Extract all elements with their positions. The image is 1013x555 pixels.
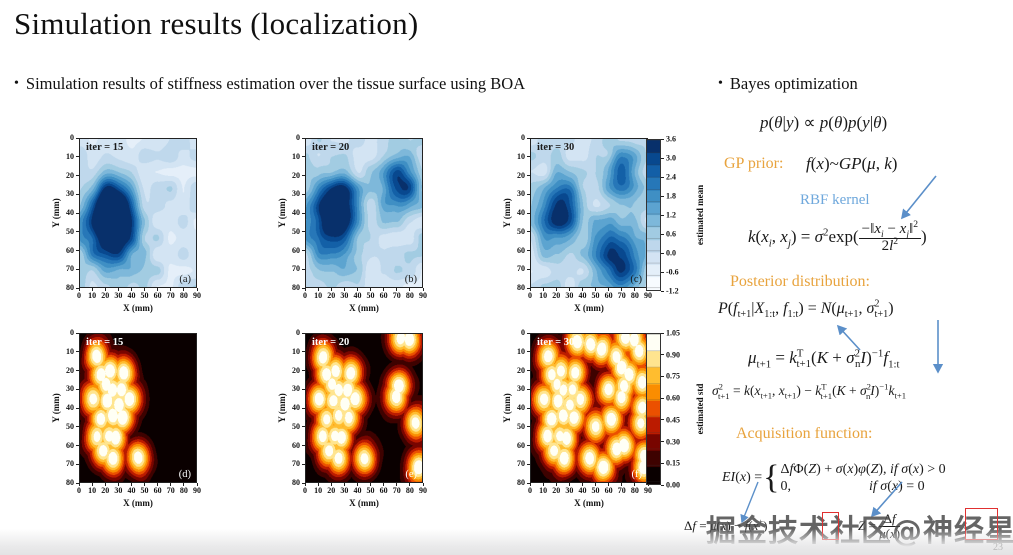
iteration-label-f: iter = 30 [537, 337, 574, 348]
iteration-label-e: iter = 20 [312, 337, 349, 348]
y-tickmark [527, 333, 530, 334]
heatmap-panel-d: iter = 15(d) [79, 333, 197, 483]
y-tickmark [76, 445, 79, 446]
y-tick-label: 30 [60, 190, 74, 198]
x-tick-label: 90 [644, 292, 652, 300]
y-tickmark [76, 351, 79, 352]
x-tick-label: 60 [380, 292, 388, 300]
x-tick-label: 70 [618, 292, 626, 300]
panel-letter-c: (c) [630, 274, 642, 285]
formula-rbf-kernel: k(xi, xj) = σ2exp( −‖xi − xj‖2 2l2 ) [748, 222, 927, 255]
colorbar-tickmark [661, 376, 664, 377]
y-tickmark [527, 426, 530, 427]
colorbar-tick-label: -0.6 [666, 268, 679, 277]
page-title: Simulation results (localization) [14, 6, 418, 42]
y-tickmark [76, 408, 79, 409]
colorbar-tickmark [661, 354, 664, 355]
bullet-marker-right: • [718, 76, 723, 92]
formula-sigma-update: σ2t+1 = k(xt+1, xt+1) − kTt+1(K + σ2nI)−… [712, 383, 906, 399]
y-tickmark [76, 194, 79, 195]
y-tickmark [527, 250, 530, 251]
x-tick-label: 60 [605, 487, 613, 495]
colorbar-tickmark [661, 441, 664, 442]
bullet-marker-left: • [14, 76, 19, 92]
colorbar-tick-label: 1.2 [666, 211, 676, 220]
y-axis-label: Y (mm) [277, 198, 287, 227]
y-tick-label: 80 [286, 479, 300, 487]
formula-bayes-rule: p(θ|y) ∝ p(θ)p(y|θ) [760, 113, 887, 133]
x-tick-label: 50 [367, 292, 375, 300]
x-tick-label: 20 [552, 487, 560, 495]
page-number: 23 [993, 542, 1003, 553]
heatmap-canvas-a [80, 139, 196, 287]
x-tick-label: 10 [539, 487, 547, 495]
y-tickmark [527, 408, 530, 409]
y-tickmark [302, 250, 305, 251]
y-tickmark [76, 464, 79, 465]
y-tick-label: 40 [286, 209, 300, 217]
y-tick-label: 60 [60, 247, 74, 255]
y-tick-label: 40 [286, 404, 300, 412]
x-tick-label: 40 [353, 487, 361, 495]
x-tick-label: 30 [114, 487, 122, 495]
y-tickmark [302, 426, 305, 427]
x-tick-label: 30 [565, 487, 573, 495]
x-tick-label: 0 [77, 292, 81, 300]
y-tick-label: 0 [286, 329, 300, 337]
colorbar-title: estimated mean [695, 185, 705, 245]
x-tick-label: 10 [314, 292, 322, 300]
x-tick-label: 60 [380, 487, 388, 495]
y-tickmark [76, 333, 79, 334]
x-tick-label: 10 [88, 292, 96, 300]
x-tick-label: 50 [592, 292, 600, 300]
y-tick-label: 50 [60, 423, 74, 431]
colorbar-estimated-mean [646, 139, 661, 291]
x-tick-label: 80 [631, 487, 639, 495]
y-tick-label: 70 [60, 460, 74, 468]
x-tick-label: 50 [141, 487, 149, 495]
iteration-label-a: iter = 15 [86, 142, 123, 153]
x-tick-label: 30 [114, 292, 122, 300]
colorbar-tickmark [661, 485, 664, 486]
y-tickmark [527, 156, 530, 157]
x-tick-label: 20 [101, 487, 109, 495]
footer-fade [0, 529, 1013, 555]
y-tickmark [76, 156, 79, 157]
x-tick-label: 70 [167, 487, 175, 495]
x-axis-label: X (mm) [123, 498, 153, 508]
colorbar-tickmark [661, 196, 664, 197]
colorbar-title: estimated std [695, 384, 705, 435]
y-tick-label: 20 [60, 172, 74, 180]
y-tickmark [302, 483, 305, 484]
x-tick-label: 0 [303, 487, 307, 495]
bullet-right-text: Bayes optimization [730, 74, 858, 93]
panel-letter-d: (d) [179, 469, 191, 480]
y-tick-label: 80 [511, 479, 525, 487]
x-tick-label: 20 [327, 292, 335, 300]
x-tick-label: 10 [314, 487, 322, 495]
y-tick-label: 30 [511, 385, 525, 393]
iteration-label-c: iter = 30 [537, 142, 574, 153]
y-tick-label: 50 [286, 423, 300, 431]
y-tick-label: 80 [511, 284, 525, 292]
y-tickmark [527, 483, 530, 484]
colorbar-tickmark [661, 253, 664, 254]
y-tickmark [302, 389, 305, 390]
colorbar-tick-label: 0.45 [666, 415, 680, 424]
y-tick-label: 20 [60, 367, 74, 375]
y-tickmark [302, 408, 305, 409]
y-tickmark [76, 389, 79, 390]
y-tick-label: 20 [286, 367, 300, 375]
colorbar-tick-label: 0.15 [666, 459, 680, 468]
y-tick-label: 0 [286, 134, 300, 142]
y-tickmark [76, 288, 79, 289]
colorbar-tick-label: 0.6 [666, 230, 676, 239]
y-axis-label: Y (mm) [51, 393, 61, 422]
iteration-label-b: iter = 20 [312, 142, 349, 153]
heatmap-canvas-e [306, 334, 422, 482]
label-acquisition-function: Acquisition function: [736, 425, 872, 443]
colorbar-tick-label: 0.00 [666, 481, 680, 490]
x-tick-label: 90 [644, 487, 652, 495]
x-tick-label: 10 [539, 292, 547, 300]
formula-posterior: P(ft+1|X1:t, f1:t) = N(μt+1, σ2t+1) [718, 300, 894, 318]
x-axis-label: X (mm) [123, 303, 153, 313]
x-tick-label: 90 [193, 487, 201, 495]
bullet-left-text: Simulation results of stiffness estimati… [26, 74, 525, 93]
y-tick-label: 10 [511, 153, 525, 161]
y-tick-label: 0 [511, 329, 525, 337]
y-tick-label: 0 [511, 134, 525, 142]
heatmap-canvas-c [531, 139, 647, 287]
colorbar-estimated-std [646, 333, 661, 485]
x-axis-label: X (mm) [574, 498, 604, 508]
y-tickmark [527, 194, 530, 195]
y-tickmark [527, 351, 530, 352]
y-tickmark [302, 445, 305, 446]
y-tick-label: 50 [60, 228, 74, 236]
y-tick-label: 60 [286, 247, 300, 255]
y-tickmark [76, 138, 79, 139]
y-tick-label: 40 [60, 404, 74, 412]
colorbar-gradient [647, 140, 660, 290]
bullet-left: •Simulation results of stiffness estimat… [14, 74, 525, 94]
x-tick-label: 80 [631, 292, 639, 300]
formula-gp-prior: f(x)~GP(μ, k) [806, 154, 897, 174]
y-axis-label: Y (mm) [51, 198, 61, 227]
y-tick-label: 40 [511, 404, 525, 412]
y-tick-label: 80 [60, 284, 74, 292]
colorbar-tickmark [661, 139, 664, 140]
y-tickmark [76, 250, 79, 251]
x-axis-label: X (mm) [349, 303, 379, 313]
y-tickmark [527, 288, 530, 289]
panel-letter-b: (b) [405, 274, 417, 285]
y-tick-label: 20 [511, 367, 525, 375]
y-tickmark [76, 213, 79, 214]
x-tick-label: 0 [77, 487, 81, 495]
x-tick-label: 0 [528, 487, 532, 495]
x-tick-label: 20 [552, 292, 560, 300]
y-tick-label: 60 [511, 247, 525, 255]
x-tick-label: 50 [367, 487, 375, 495]
x-axis-label: X (mm) [349, 498, 379, 508]
y-tick-label: 30 [286, 190, 300, 198]
y-tickmark [76, 483, 79, 484]
y-tick-label: 70 [286, 460, 300, 468]
y-tick-label: 50 [286, 228, 300, 236]
heatmap-canvas-d [80, 334, 196, 482]
y-tickmark [527, 464, 530, 465]
colorbar-tickmark [661, 272, 664, 273]
x-tick-label: 60 [154, 487, 162, 495]
x-tick-label: 40 [127, 487, 135, 495]
panel-letter-f: (f) [632, 469, 643, 480]
y-tick-label: 20 [511, 172, 525, 180]
x-tick-label: 30 [340, 487, 348, 495]
heatmap-panel-c: iter = 30(c) [530, 138, 648, 288]
x-tick-label: 70 [167, 292, 175, 300]
y-tickmark [302, 333, 305, 334]
heatmap-panel-f: iter = 30(f) [530, 333, 648, 483]
y-tick-label: 50 [511, 228, 525, 236]
x-tick-label: 30 [340, 292, 348, 300]
y-tickmark [302, 213, 305, 214]
y-tickmark [76, 370, 79, 371]
y-tick-label: 60 [511, 442, 525, 450]
y-tick-label: 70 [511, 265, 525, 273]
y-tick-label: 60 [286, 442, 300, 450]
y-tickmark [302, 156, 305, 157]
x-tick-label: 30 [565, 292, 573, 300]
y-tick-label: 0 [60, 329, 74, 337]
iteration-label-d: iter = 15 [86, 337, 123, 348]
y-tickmark [527, 370, 530, 371]
colorbar-tickmark [661, 234, 664, 235]
x-tick-label: 50 [592, 487, 600, 495]
y-tickmark [527, 389, 530, 390]
y-tickmark [302, 288, 305, 289]
heatmap-panel-e: iter = 20(e) [305, 333, 423, 483]
y-tick-label: 30 [286, 385, 300, 393]
x-tick-label: 70 [393, 292, 401, 300]
colorbar-tick-label: 0.0 [666, 249, 676, 258]
colorbar-tickmark [661, 177, 664, 178]
y-axis-label: Y (mm) [277, 393, 287, 422]
colorbar-tickmark [661, 291, 664, 292]
y-axis-label: Y (mm) [502, 393, 512, 422]
y-tick-label: 40 [60, 209, 74, 217]
x-tick-label: 20 [101, 292, 109, 300]
colorbar-tickmark [661, 398, 664, 399]
x-tick-label: 40 [127, 292, 135, 300]
colorbar-tick-label: 3.6 [666, 135, 676, 144]
colorbar-tick-label: 1.8 [666, 192, 676, 201]
colorbar-tick-label: 0.75 [666, 372, 680, 381]
x-tick-label: 10 [88, 487, 96, 495]
y-tick-label: 50 [511, 423, 525, 431]
x-tick-label: 90 [193, 292, 201, 300]
heatmap-canvas-b [306, 139, 422, 287]
x-tick-label: 90 [419, 487, 427, 495]
colorbar-tick-label: 1.05 [666, 329, 680, 338]
x-tick-label: 50 [141, 292, 149, 300]
label-rbf-kernel: RBF kernel [800, 192, 870, 209]
y-tick-label: 10 [286, 153, 300, 161]
heatmap-panel-a: iter = 15(a) [79, 138, 197, 288]
y-tick-label: 70 [511, 460, 525, 468]
colorbar-tick-label: 0.90 [666, 350, 680, 359]
x-tick-label: 60 [605, 292, 613, 300]
y-tickmark [302, 351, 305, 352]
colorbar-tickmark [661, 158, 664, 159]
y-tick-label: 10 [60, 153, 74, 161]
formula-mu-update: μt+1 = kTt+1(K + σ2nI)−1f1:t [748, 348, 900, 368]
y-tickmark [76, 269, 79, 270]
panel-letter-e: (e) [405, 469, 417, 480]
y-tickmark [302, 464, 305, 465]
x-tick-label: 20 [327, 487, 335, 495]
y-tickmark [76, 426, 79, 427]
y-tick-label: 20 [286, 172, 300, 180]
y-tick-label: 30 [511, 190, 525, 198]
y-tickmark [302, 194, 305, 195]
y-tick-label: 70 [286, 265, 300, 273]
colorbar-tickmark [661, 333, 664, 334]
y-tickmark [527, 138, 530, 139]
colorbar-gradient [647, 334, 660, 484]
label-posterior-distribution: Posterior distribution: [730, 273, 870, 291]
y-tick-label: 10 [60, 348, 74, 356]
y-tickmark [527, 175, 530, 176]
x-tick-label: 60 [154, 292, 162, 300]
y-tickmark [302, 370, 305, 371]
colorbar-tickmark [661, 419, 664, 420]
label-gp-prior: GP prior: [724, 155, 783, 173]
y-tick-label: 10 [286, 348, 300, 356]
colorbar-tickmark [661, 463, 664, 464]
x-tick-label: 80 [406, 487, 414, 495]
colorbar-tickmark [661, 215, 664, 216]
y-tickmark [302, 138, 305, 139]
heatmap-panel-b: iter = 20(b) [305, 138, 423, 288]
y-tickmark [527, 213, 530, 214]
y-tick-label: 80 [286, 284, 300, 292]
y-axis-label: Y (mm) [502, 198, 512, 227]
x-tick-label: 80 [406, 292, 414, 300]
y-tick-label: 40 [511, 209, 525, 217]
y-tick-label: 70 [60, 265, 74, 273]
heatmap-canvas-f [531, 334, 647, 482]
y-tickmark [302, 175, 305, 176]
x-tick-label: 80 [180, 292, 188, 300]
y-tickmark [527, 231, 530, 232]
slide-canvas: Simulation results (localization) •Simul… [0, 0, 1013, 555]
y-tickmark [76, 175, 79, 176]
y-tickmark [302, 231, 305, 232]
y-tickmark [302, 269, 305, 270]
bullet-right: •Bayes optimization [718, 74, 858, 94]
colorbar-tick-label: 2.4 [666, 173, 676, 182]
x-tick-label: 40 [578, 292, 586, 300]
y-tick-label: 30 [60, 385, 74, 393]
colorbar-tick-label: 3.0 [666, 154, 676, 163]
y-tickmark [76, 231, 79, 232]
panel-letter-a: (a) [179, 274, 191, 285]
x-tick-label: 40 [353, 292, 361, 300]
colorbar-tick-label: 0.60 [666, 394, 680, 403]
y-tick-label: 80 [60, 479, 74, 487]
colorbar-tick-label: -1.2 [666, 287, 679, 296]
x-tick-label: 70 [393, 487, 401, 495]
y-tickmark [527, 269, 530, 270]
x-tick-label: 80 [180, 487, 188, 495]
y-tick-label: 60 [60, 442, 74, 450]
colorbar-tick-label: 0.30 [666, 437, 680, 446]
x-tick-label: 90 [419, 292, 427, 300]
y-tick-label: 10 [511, 348, 525, 356]
arrow-posterior-to-sigma [930, 318, 960, 380]
x-tick-label: 0 [528, 292, 532, 300]
x-axis-label: X (mm) [574, 303, 604, 313]
x-tick-label: 0 [303, 292, 307, 300]
y-tickmark [527, 445, 530, 446]
y-tick-label: 0 [60, 134, 74, 142]
x-tick-label: 40 [578, 487, 586, 495]
x-tick-label: 70 [618, 487, 626, 495]
